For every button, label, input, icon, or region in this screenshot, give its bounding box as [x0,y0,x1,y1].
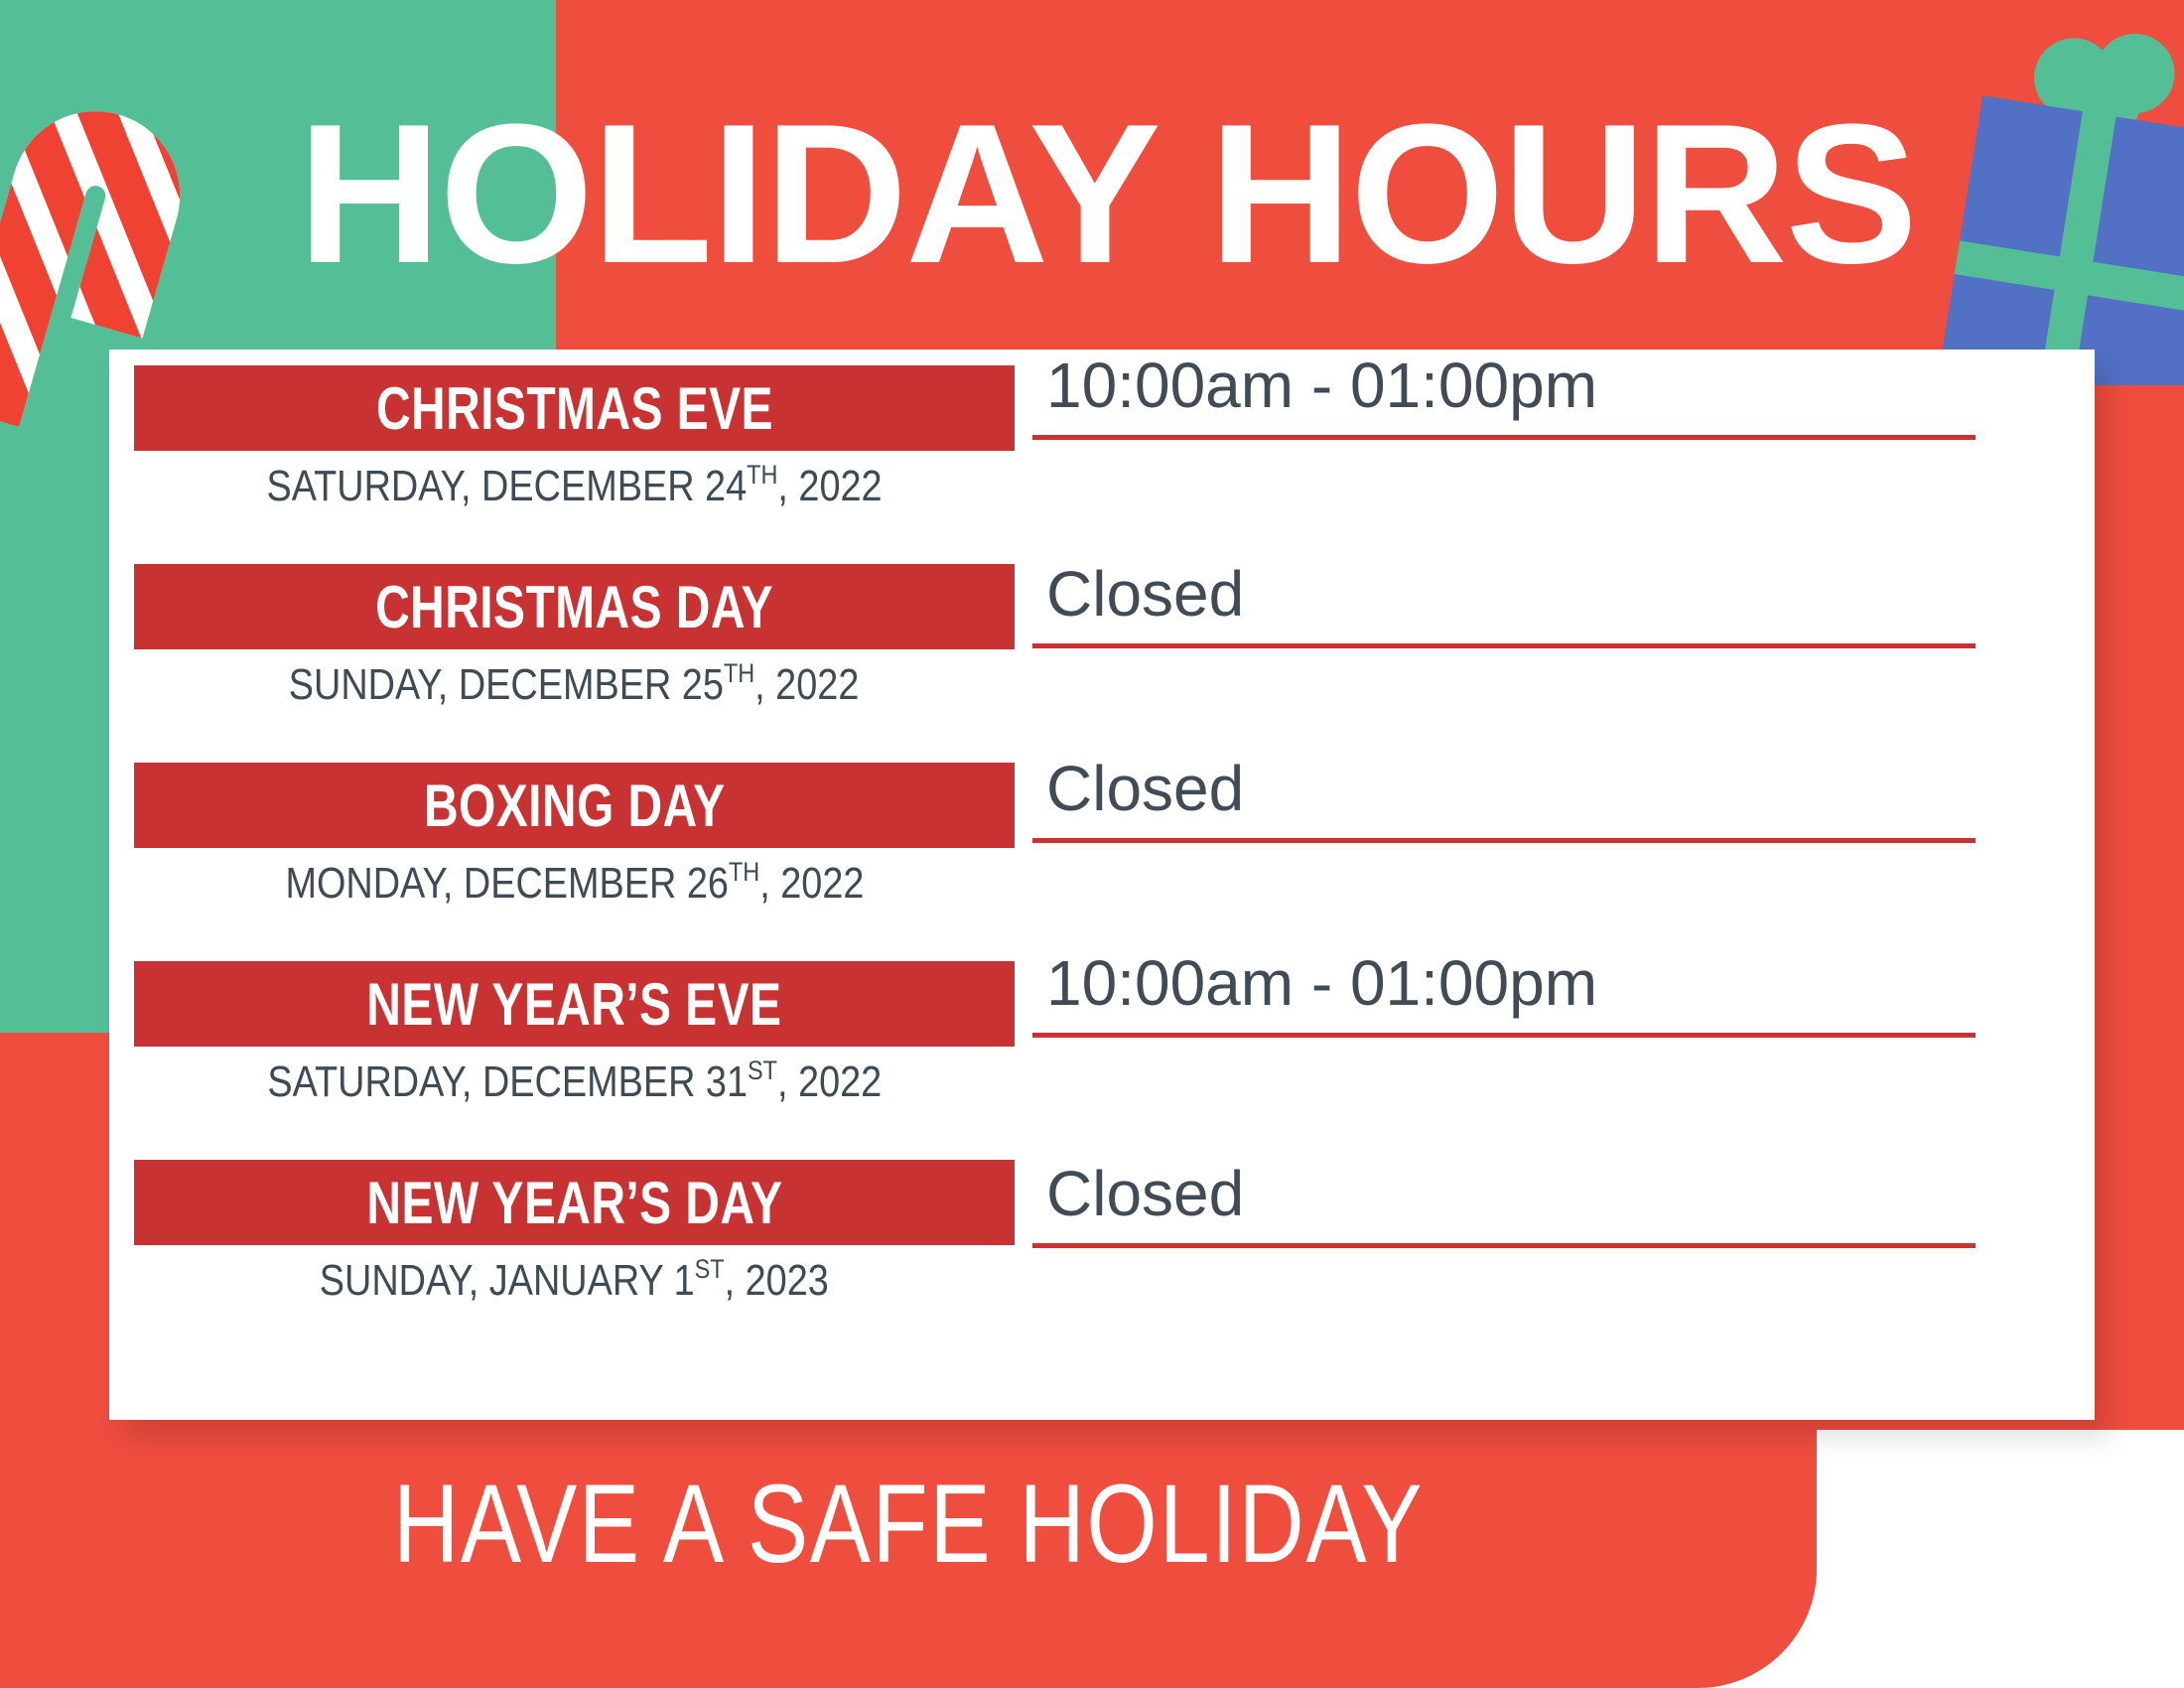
date-ordinal: ST [748,1055,777,1085]
holiday-name: CHRISTMAS DAY [375,573,773,641]
hours-cell: Closed [1032,544,1976,648]
date-month: DECEMBER [482,1057,706,1106]
table-row: NEW YEAR’S DAY SUNDAY, JANUARY 1ST, 2023… [109,1144,2095,1372]
hours-value: Closed [1032,557,1244,631]
date-day: 1 [674,1256,695,1305]
date-month: DECEMBER [459,660,682,709]
holiday-name-badge: BOXING DAY [134,763,1015,848]
date-month: JANUARY [489,1256,674,1305]
date-day: 25 [682,660,724,709]
date-day: 24 [705,462,747,510]
table-row: CHRISTMAS DAY SUNDAY, DECEMBER 25TH, 202… [109,548,2095,747]
footer-message-text: HAVE A SAFE HOLIDAY [393,1460,1424,1588]
holiday-name-badge: NEW YEAR’S EVE [134,961,1015,1047]
date-weekday: SATURDAY, [267,1057,482,1106]
hours-cell: Closed [1032,1144,1976,1248]
date-year: , 2023 [725,1256,829,1305]
date-day: 31 [706,1057,748,1106]
holiday-name-badge: CHRISTMAS EVE [134,365,1015,451]
holiday-date: MONDAY, DECEMBER 26TH, 2022 [134,856,1015,909]
table-row: NEW YEAR’S EVE SATURDAY, DECEMBER 31ST, … [109,945,2095,1144]
date-weekday: MONDAY, [285,859,463,908]
date-month: DECEMBER [481,462,705,510]
holiday-name: CHRISTMAS EVE [376,374,773,443]
footer-message: HAVE A SAFE HOLIDAY [0,1460,1817,1588]
holiday-name-badge: NEW YEAR’S DAY [134,1160,1015,1245]
table-row: CHRISTMAS EVE SATURDAY, DECEMBER 24TH, 2… [109,350,2095,548]
holiday-date: SUNDAY, DECEMBER 25TH, 2022 [134,657,1015,710]
holiday-date: SUNDAY, JANUARY 1ST, 2023 [134,1253,1015,1306]
hours-value: 10:00am - 01:00pm [1032,349,1597,422]
holiday-date: SATURDAY, DECEMBER 24TH, 2022 [134,459,1015,511]
date-year: , 2022 [777,462,882,510]
hours-cell: Closed [1032,739,1976,843]
date-ordinal: TH [747,459,777,490]
hours-value: Closed [1032,1157,1244,1230]
date-weekday: SATURDAY, [266,462,481,510]
date-year: , 2022 [777,1057,882,1106]
date-ordinal: ST [695,1253,725,1284]
hours-value: 10:00am - 01:00pm [1032,946,1597,1020]
holiday-name: BOXING DAY [424,772,726,840]
holiday-date: SATURDAY, DECEMBER 31ST, 2022 [134,1055,1015,1107]
date-weekday: SUNDAY, [289,660,459,709]
holiday-name: NEW YEAR’S DAY [366,1169,782,1237]
hours-value: Closed [1032,752,1244,825]
date-month: DECEMBER [463,859,686,908]
schedule-card: CHRISTMAS EVE SATURDAY, DECEMBER 24TH, 2… [109,350,2095,1420]
date-ordinal: TH [724,657,754,688]
holiday-name-badge: CHRISTMAS DAY [134,564,1015,649]
date-day: 26 [686,859,728,908]
hours-cell: 10:00am - 01:00pm [1032,933,1976,1038]
date-year: , 2022 [755,660,860,709]
holiday-name: NEW YEAR’S EVE [366,970,781,1039]
date-ordinal: TH [729,856,759,887]
date-weekday: SUNDAY, [320,1256,489,1305]
table-row: BOXING DAY MONDAY, DECEMBER 26TH, 2022 C… [109,747,2095,945]
page-title: HOLIDAY HOURS [298,95,1916,294]
date-year: , 2022 [759,859,864,908]
hours-cell: 10:00am - 01:00pm [1032,336,1976,440]
gift-box-icon [1934,28,2184,385]
schedule-rows: CHRISTMAS EVE SATURDAY, DECEMBER 24TH, 2… [109,350,2095,1372]
holiday-hours-poster: HOLIDAY HOURS CHRISTMAS EVE SATURDAY, DE… [0,0,2184,1688]
